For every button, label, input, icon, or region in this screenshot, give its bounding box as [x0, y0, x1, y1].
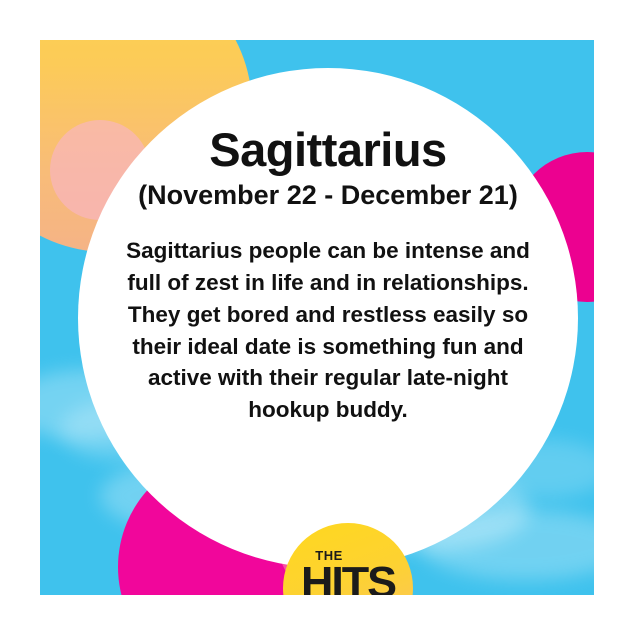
page-title: Sagittarius: [209, 126, 446, 173]
zodiac-date-range: (November 22 - December 21): [138, 181, 518, 211]
the-hits-logo-text: THE HITS: [283, 549, 413, 595]
zodiac-description: Sagittarius people can be intense and fu…: [113, 235, 543, 427]
content-circle: Sagittarius (November 22 - December 21) …: [78, 68, 578, 568]
sky-background: Sagittarius (November 22 - December 21) …: [40, 40, 594, 595]
logo-word-hits: HITS: [283, 563, 413, 595]
poster-frame: Sagittarius (November 22 - December 21) …: [0, 0, 635, 635]
